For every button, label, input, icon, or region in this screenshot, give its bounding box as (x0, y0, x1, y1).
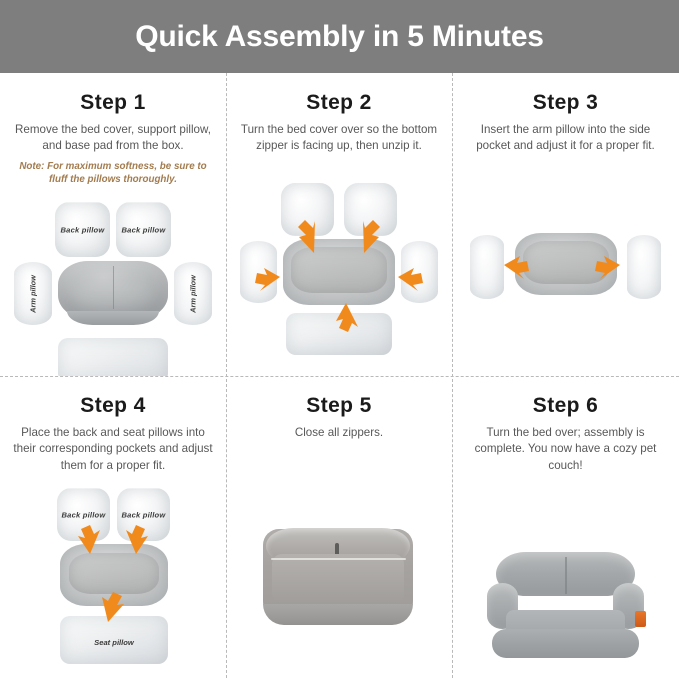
steps-grid: Step 1 Remove the bed cover, support pil… (0, 73, 679, 678)
step-4-illustration: Back pillow Back pillow Seat pillow (0, 474, 226, 678)
arm-pillow-right: Arm pillow (174, 262, 212, 325)
couch-backrest-seam (565, 557, 567, 594)
couch-base (492, 629, 640, 658)
step-5-description: Close all zippers. (238, 425, 440, 441)
assembly-instructions-page: Quick Assembly in 5 Minutes Step 1 Remov… (0, 0, 679, 678)
arm-pillow-left: Arm pillow (14, 262, 52, 325)
step-panel-1: Step 1 Remove the bed cover, support pil… (0, 73, 226, 376)
assembly-arrows (0, 474, 226, 678)
bed-cushion (272, 554, 404, 604)
step-4-title: Step 4 (0, 394, 226, 418)
base-pad (58, 338, 168, 376)
step-2-illustration (226, 155, 452, 376)
arrow-down-right-icon (126, 525, 148, 554)
step-6-description: Turn the bed over; assembly is complete.… (464, 425, 667, 474)
step-2-description: Turn the bed cover over so the bottom zi… (238, 122, 440, 155)
step-1-note: Note: For maximum softness, be sure to f… (16, 160, 210, 186)
page-header: Quick Assembly in 5 Minutes (0, 0, 679, 73)
step-5-title: Step 5 (226, 394, 452, 418)
finished-pet-couch (487, 552, 644, 662)
page-title: Quick Assembly in 5 Minutes (135, 22, 544, 52)
arrow-down-icon (336, 303, 358, 332)
arm-pillow-left-label: Arm pillow (29, 275, 38, 313)
step-panel-6: Step 6 Turn the bed over; assembly is co… (452, 376, 679, 678)
back-pillow-left: Back pillow (55, 202, 110, 257)
step-1-description: Remove the bed cover, support pillow, an… (12, 122, 214, 155)
step-5-illustration (226, 441, 452, 678)
bed-cover-flap (67, 311, 159, 325)
bed-piping (271, 558, 406, 560)
arrow-up-right-icon (363, 220, 380, 253)
step-panel-3: Step 3 Insert the arm pillow into the si… (452, 73, 679, 376)
step-panel-4: Step 4 Place the back and seat pillows i… (0, 376, 226, 678)
bed-cover-seam (113, 266, 114, 309)
step-3-title: Step 3 (452, 91, 679, 115)
arrow-left-into-right-pocket-icon (595, 256, 620, 279)
arrow-left-icon (255, 268, 280, 291)
step-3-illustration (452, 155, 679, 376)
arrow-down-left-icon (78, 525, 100, 554)
assembled-bed (263, 529, 413, 625)
step-3-description: Insert the arm pillow into the side pock… (464, 122, 667, 155)
arrow-right-into-left-pocket-icon (504, 256, 529, 279)
assembly-arrows (226, 155, 452, 376)
step-6-title: Step 6 (452, 394, 679, 418)
bed-cover (58, 261, 168, 319)
step-panel-2: Step 2 Turn the bed cover over so the bo… (226, 73, 452, 376)
step-2-title: Step 2 (226, 91, 452, 115)
back-pillow-right: Back pillow (116, 202, 171, 257)
brand-tag (635, 611, 646, 627)
arrow-right-icon (398, 268, 423, 291)
step-1-illustration: Back pillow Back pillow Arm pillow Arm p… (0, 186, 226, 376)
back-pillow-left-label: Back pillow (55, 225, 110, 234)
arrow-up-left-icon (298, 220, 315, 253)
arm-pillow-right-label: Arm pillow (189, 275, 198, 313)
bed-skirt (263, 604, 413, 625)
step-panel-5: Step 5 Close all zippers. (226, 376, 452, 678)
back-pillow-right-label: Back pillow (116, 225, 171, 234)
assembly-arrows (452, 155, 679, 376)
step-4-description: Place the back and seat pillows into the… (12, 425, 214, 474)
step-6-illustration (452, 474, 679, 678)
step-1-title: Step 1 (0, 91, 226, 115)
arrow-up-seat-icon (102, 592, 124, 622)
